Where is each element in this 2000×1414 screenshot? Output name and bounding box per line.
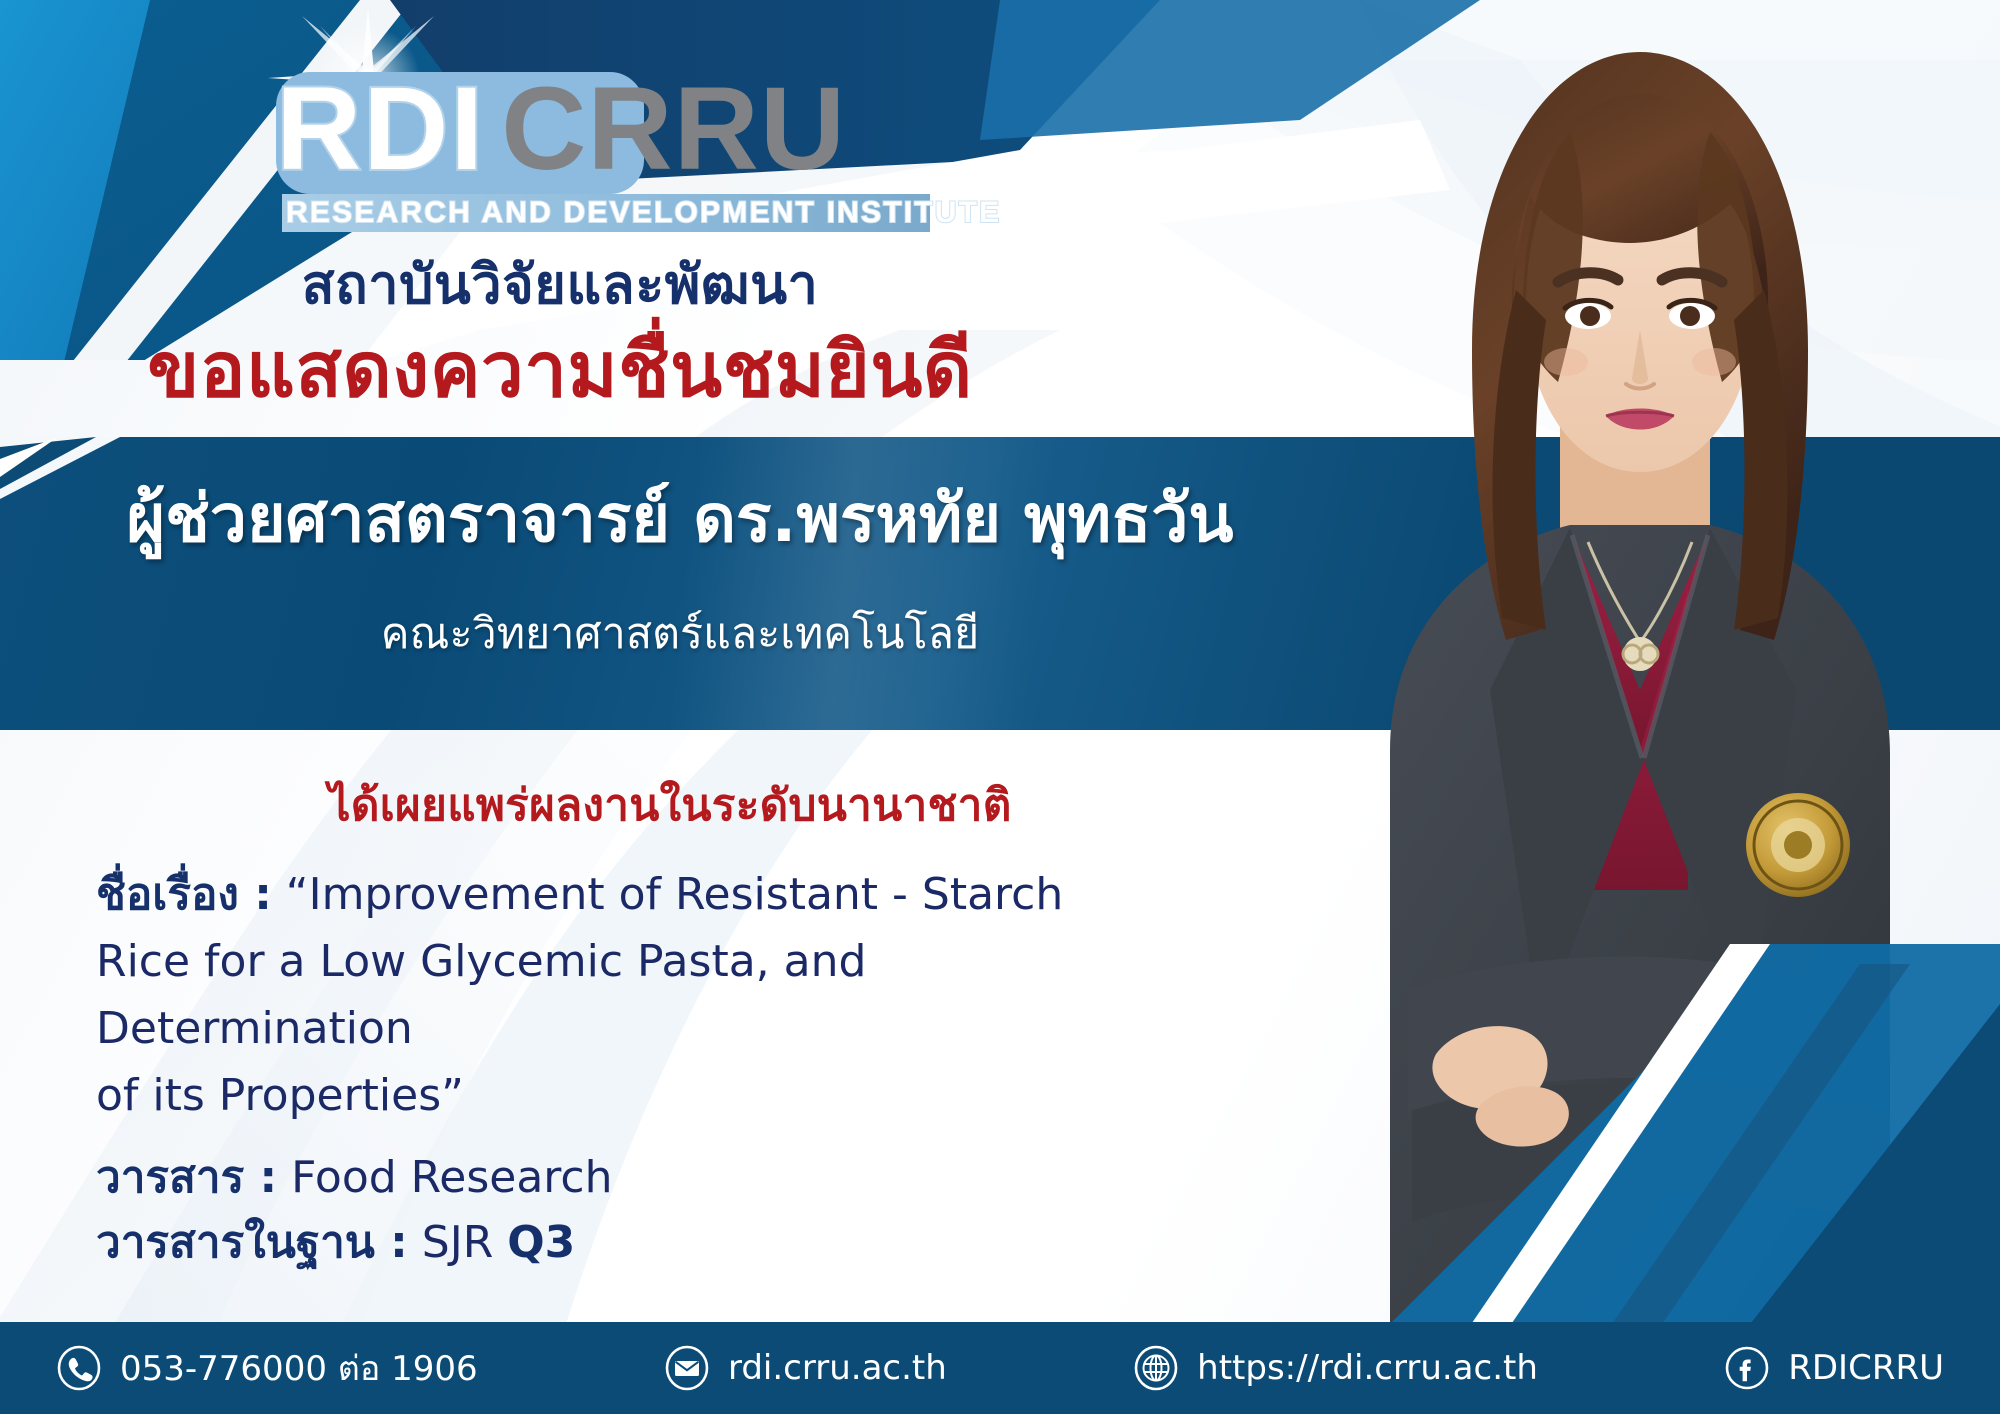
title-line-2: Rice for a Low Glycemic Pasta, and Deter… (96, 936, 866, 1054)
poster-root: RDI CRRU RESEARCH AND DEVELOPMENT INSTIT… (0, 0, 2000, 1414)
person-name: ผู้ช่วยศาสตราจารย์ ดร.พรหทัย พุทธวัน (0, 482, 1360, 556)
person-faculty: คณะวิทยาศาสตร์และเทคโนโลยี (0, 610, 1360, 659)
globe-icon (1133, 1345, 1179, 1391)
footer-email[interactable]: rdi.crru.ac.th (664, 1345, 947, 1391)
title-line-1: “Improvement of Resistant - Starch (286, 869, 1063, 920)
journal-info-block: วารสาร : Food Research วารสารในฐาน : SJR… (96, 1145, 1096, 1275)
logo-crru-text: CRRU (501, 66, 846, 193)
footer-phone[interactable]: 053-776000 ต่อ 1906 (56, 1341, 478, 1395)
title-line-3: of its Properties” (96, 1070, 464, 1121)
quartile-badge: Q3 (507, 1217, 575, 1268)
footer-website-text: https://rdi.crru.ac.th (1197, 1348, 1538, 1388)
journal-value: Food Research (291, 1152, 612, 1203)
footer-facebook-text: RDICRRU (1788, 1348, 1944, 1388)
institute-name-th: สถาบันวิจัยและพัฒนา (0, 255, 1120, 314)
email-icon (664, 1345, 710, 1391)
journal-label: วารสาร : (96, 1152, 277, 1203)
database-value: SJR (422, 1217, 493, 1268)
portrait-photo (1240, 0, 2000, 1330)
footer-bar: 053-776000 ต่อ 1906 rdi.crru.ac.th (0, 1322, 2000, 1414)
phone-icon (56, 1345, 102, 1391)
congratulations-heading: ขอแสดงความชื่นชมยินดี (0, 327, 1120, 412)
footer-email-text: rdi.crru.ac.th (728, 1348, 947, 1388)
rdi-crru-logo: RDI CRRU RESEARCH AND DEVELOPMENT INSTIT… (276, 66, 936, 246)
title-label: ชื่อเรื่อง : (96, 869, 272, 920)
database-row: วารสารในฐาน : SJR Q3 (96, 1210, 1096, 1275)
footer-website[interactable]: https://rdi.crru.ac.th (1133, 1345, 1538, 1391)
footer-phone-text: 053-776000 ต่อ 1906 (120, 1341, 478, 1395)
footer-facebook[interactable]: RDICRRU (1724, 1345, 1944, 1391)
publication-heading: ได้เผยแพร่ผลงานในระดับนานาชาติ (0, 770, 1340, 840)
logo-subtitle-text: RESEARCH AND DEVELOPMENT INSTITUTE (286, 194, 946, 232)
database-label: วารสารในฐาน : (96, 1217, 408, 1268)
journal-row: วารสาร : Food Research (96, 1145, 1096, 1210)
logo-rdi-text: RDI (276, 66, 485, 193)
paper-title-block: ชื่อเรื่อง : “Improvement of Resistant -… (96, 862, 1166, 1130)
facebook-icon (1724, 1345, 1770, 1391)
